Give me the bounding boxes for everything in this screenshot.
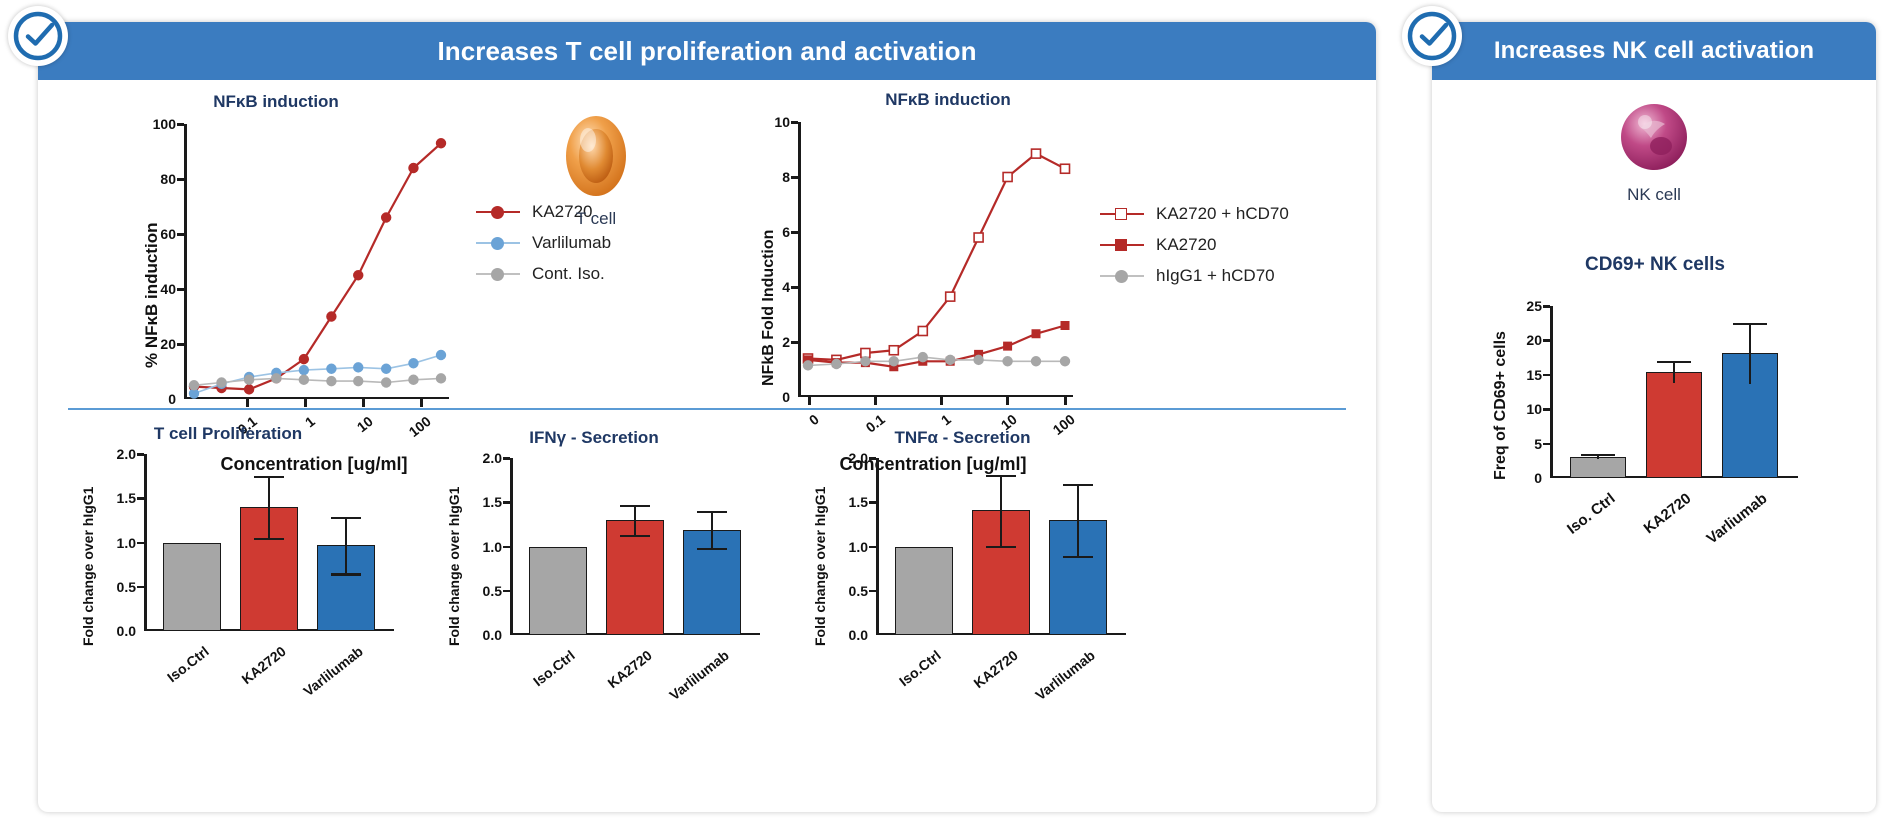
error-bar	[1749, 323, 1751, 385]
x-tick-label: KA2720	[239, 643, 289, 687]
chart-nfkb-percent-title: NFκB induction	[0, 92, 556, 112]
error-cap-top	[254, 476, 284, 478]
legend-label: Cont. Iso.	[532, 264, 605, 284]
x-tick-mark	[420, 399, 423, 407]
chart-nfkb-percent-plot: 0204060801000.1110100	[184, 124, 449, 399]
error-cap-bottom	[697, 548, 727, 550]
figure-canvas: Increases T cell proliferation and activ…	[0, 0, 1890, 829]
panel-t-cell: Increases T cell proliferation and activ…	[38, 22, 1376, 812]
y-tick-label: 0	[168, 391, 184, 407]
error-bar	[634, 505, 636, 535]
nk-cell-graphic: NK cell	[1594, 98, 1714, 205]
x-tick-label: Iso.Ctrl	[530, 647, 578, 689]
t-cell-icon	[551, 112, 641, 200]
x-tick-label: KA2720	[971, 647, 1021, 691]
x-tick-mark	[246, 399, 249, 407]
legend-item: hIgG1 + hCD70	[1100, 260, 1289, 291]
chart-t-cell-proliferation-plot: 0.00.51.01.52.0Iso.CtrlKA2720Varlilumab	[144, 454, 394, 631]
chart-cd69-nk-cells-title: CD69+ NK cells	[1450, 254, 1860, 276]
legend-marker	[1115, 208, 1127, 220]
error-cap-top	[1657, 361, 1691, 363]
y-axis	[1550, 306, 1553, 478]
y-tick-mark	[791, 286, 798, 289]
nk-cell-label: NK cell	[1594, 185, 1714, 205]
y-tick-mark	[137, 586, 144, 589]
y-tick-label: 0	[1534, 470, 1550, 486]
y-tick-mark	[791, 341, 798, 344]
chart-ifng-secretion-plot: 0.00.51.01.52.0Iso.CtrlKA2720Varlilumab	[510, 458, 760, 635]
chart-ifng-secretion: IFNγ - Secretion Fold change over hIgG1 …	[424, 420, 784, 690]
y-tick-mark	[791, 121, 798, 124]
chart-t-cell-proliferation-ylabel: Fold change over hIgG1	[80, 487, 96, 646]
y-tick-mark	[503, 501, 510, 504]
t-cell-graphic: T cell	[536, 112, 656, 229]
x-tick-mark	[874, 397, 877, 405]
error-bar	[1000, 475, 1002, 546]
chart-ifng-secretion-ylabel: Fold change over hIgG1	[446, 487, 462, 646]
y-axis	[144, 454, 147, 631]
check-circle-icon	[1406, 10, 1458, 62]
y-tick-mark	[177, 178, 184, 181]
chart-tnfa-secretion-ylabel: Fold change over hIgG1	[812, 487, 828, 646]
chart-nfkb-fold-title: NFκB induction	[648, 90, 1248, 110]
section-divider	[68, 408, 1346, 410]
error-bar	[711, 511, 713, 548]
chart-t-cell-proliferation: T cell Proliferation Fold change over hI…	[58, 420, 418, 690]
legend-item: KA2720 + hCD70	[1100, 198, 1289, 229]
y-tick-label: 0.0	[483, 627, 510, 643]
legend-marker	[491, 206, 504, 219]
legend-item: KA2720	[1100, 229, 1289, 260]
y-tick-mark	[791, 231, 798, 234]
chart-nfkb-fold-legend: KA2720 + hCD70KA2720hIgG1 + hCD70	[1100, 198, 1289, 291]
error-cap-top	[620, 505, 650, 507]
error-cap-top	[697, 511, 727, 513]
x-tick-label: Iso. Ctrl	[1564, 490, 1618, 538]
legend-label: Varlilumab	[532, 233, 611, 253]
x-tick-mark	[304, 399, 307, 407]
check-circle-badge-right	[1402, 6, 1462, 66]
y-tick-mark	[137, 497, 144, 500]
x-tick-label: Iso.Ctrl	[896, 647, 944, 689]
legend-symbol	[1100, 269, 1144, 283]
panel-t-cell-header: Increases T cell proliferation and activ…	[38, 22, 1376, 80]
y-tick-mark	[1543, 374, 1550, 377]
legend-label: hIgG1 + hCD70	[1156, 266, 1275, 286]
chart-cd69-nk-cells: CD69+ NK cells Freq of CD69+ cells 05101…	[1450, 250, 1870, 680]
x-tick-mark	[1064, 397, 1067, 405]
chart-nfkb-fold-ylabel: NFkB Fold Induction	[760, 230, 778, 386]
y-tick-mark	[869, 590, 876, 593]
y-tick-mark	[177, 288, 184, 291]
y-axis	[510, 458, 513, 635]
y-tick-mark	[177, 123, 184, 126]
x-tick-mark	[808, 397, 811, 405]
chart-tnfa-secretion: TNFα - Secretion Fold change over hIgG1 …	[790, 420, 1160, 690]
error-bar	[268, 476, 270, 538]
legend-symbol	[476, 205, 520, 219]
legend-symbol	[1100, 238, 1144, 252]
error-cap-top	[1063, 484, 1093, 486]
x-tick-label: Varlilumab	[1032, 647, 1098, 703]
chart-t-cell-proliferation-title: T cell Proliferation	[58, 424, 398, 444]
x-tick-label: Iso.Ctrl	[164, 643, 212, 685]
t-cell-label: T cell	[536, 209, 656, 229]
check-circle-icon	[12, 10, 64, 62]
error-cap-bottom	[986, 546, 1016, 548]
legend-marker	[491, 268, 504, 281]
error-bar	[345, 517, 347, 574]
y-tick-mark	[137, 542, 144, 545]
chart-nfkb-fold: NFκB induction NFkB Fold Induction 02468…	[678, 86, 1368, 436]
x-tick-label: Varlilumab	[666, 647, 732, 703]
x-tick-label: KA2720	[605, 647, 655, 691]
legend-label: KA2720 + hCD70	[1156, 204, 1289, 224]
error-bar	[1077, 484, 1079, 557]
x-tick-mark	[940, 397, 943, 405]
check-circle-badge-left	[8, 6, 68, 66]
panel-nk-cell: Increases NK cell activation NK cell	[1432, 22, 1876, 812]
panel-nk-cell-header: Increases NK cell activation	[1432, 22, 1876, 80]
error-cap-bottom	[620, 535, 650, 537]
legend-marker	[1115, 270, 1128, 283]
y-axis	[876, 458, 879, 635]
panel-t-cell-title: Increases T cell proliferation and activ…	[437, 36, 976, 67]
chart-tnfa-secretion-plot: 0.00.51.01.52.0Iso.CtrlKA2720Varlilumab	[876, 458, 1126, 635]
y-tick-mark	[137, 453, 144, 456]
chart-nfkb-fold-curves	[798, 122, 1073, 397]
legend-symbol	[1100, 207, 1144, 221]
y-tick-mark	[869, 457, 876, 460]
y-tick-mark	[177, 343, 184, 346]
y-tick-mark	[1543, 339, 1550, 342]
legend-marker	[1115, 239, 1127, 251]
y-tick-label: 0.0	[849, 627, 876, 643]
error-cap-top	[986, 475, 1016, 477]
chart-cd69-nk-cells-plot: 0510152025Iso. CtrlKA2720Varliumab	[1550, 306, 1798, 478]
error-bar	[1673, 361, 1675, 383]
y-tick-label: 0	[782, 389, 798, 405]
y-tick-mark	[503, 546, 510, 549]
x-tick-label: KA2720	[1641, 490, 1695, 537]
error-cap-top	[1733, 323, 1767, 325]
y-tick-mark	[869, 501, 876, 504]
y-tick-mark	[503, 590, 510, 593]
bar-ka2720	[1646, 372, 1702, 478]
legend-label: KA2720	[1156, 235, 1217, 255]
bar-iso-ctrl	[895, 547, 953, 636]
error-cap-top	[331, 517, 361, 519]
x-tick-mark	[1006, 397, 1009, 405]
y-tick-mark	[503, 457, 510, 460]
x-tick-label: Varliumab	[1703, 490, 1770, 548]
chart-cd69-nk-cells-ylabel: Freq of CD69+ cells	[1492, 331, 1510, 480]
y-tick-mark	[869, 546, 876, 549]
legend-item: Cont. Iso.	[476, 258, 611, 289]
chart-tnfa-secretion-title: TNFα - Secretion	[790, 428, 1135, 448]
y-tick-label: 0.0	[117, 623, 144, 639]
bar-iso-ctrl	[163, 543, 221, 632]
legend-symbol	[476, 236, 520, 250]
legend-marker	[491, 237, 504, 250]
y-tick-mark	[791, 176, 798, 179]
legend-symbol	[476, 267, 520, 281]
bar-ka2720	[606, 520, 664, 635]
chart-nfkb-percent-curves	[184, 124, 449, 399]
y-tick-mark	[177, 233, 184, 236]
chart-ifng-secretion-title: IFNγ - Secretion	[424, 428, 764, 448]
chart-nfkb-fold-plot: 024681000.1110100	[798, 122, 1073, 397]
bar-iso-ctrl	[1570, 457, 1626, 478]
y-tick-mark	[1543, 408, 1550, 411]
legend-item: Varlilumab	[476, 227, 611, 258]
chart-nfkb-percent-ylabel: % NFκB induction	[142, 223, 162, 368]
chart-nfkb-percent: NFκB induction % NFκB induction 02040608…	[56, 86, 616, 436]
nk-cell-icon	[1615, 98, 1693, 176]
x-tick-mark	[362, 399, 365, 407]
bar-iso-ctrl	[529, 547, 587, 636]
y-tick-mark	[1543, 305, 1550, 308]
y-tick-mark	[1543, 443, 1550, 446]
error-cap-top	[1581, 454, 1615, 456]
panel-nk-cell-title: Increases NK cell activation	[1494, 37, 1814, 65]
error-cap-bottom	[254, 538, 284, 540]
error-cap-bottom	[1063, 556, 1093, 558]
error-cap-bottom	[331, 573, 361, 575]
x-tick-label: Varlilumab	[300, 643, 366, 699]
